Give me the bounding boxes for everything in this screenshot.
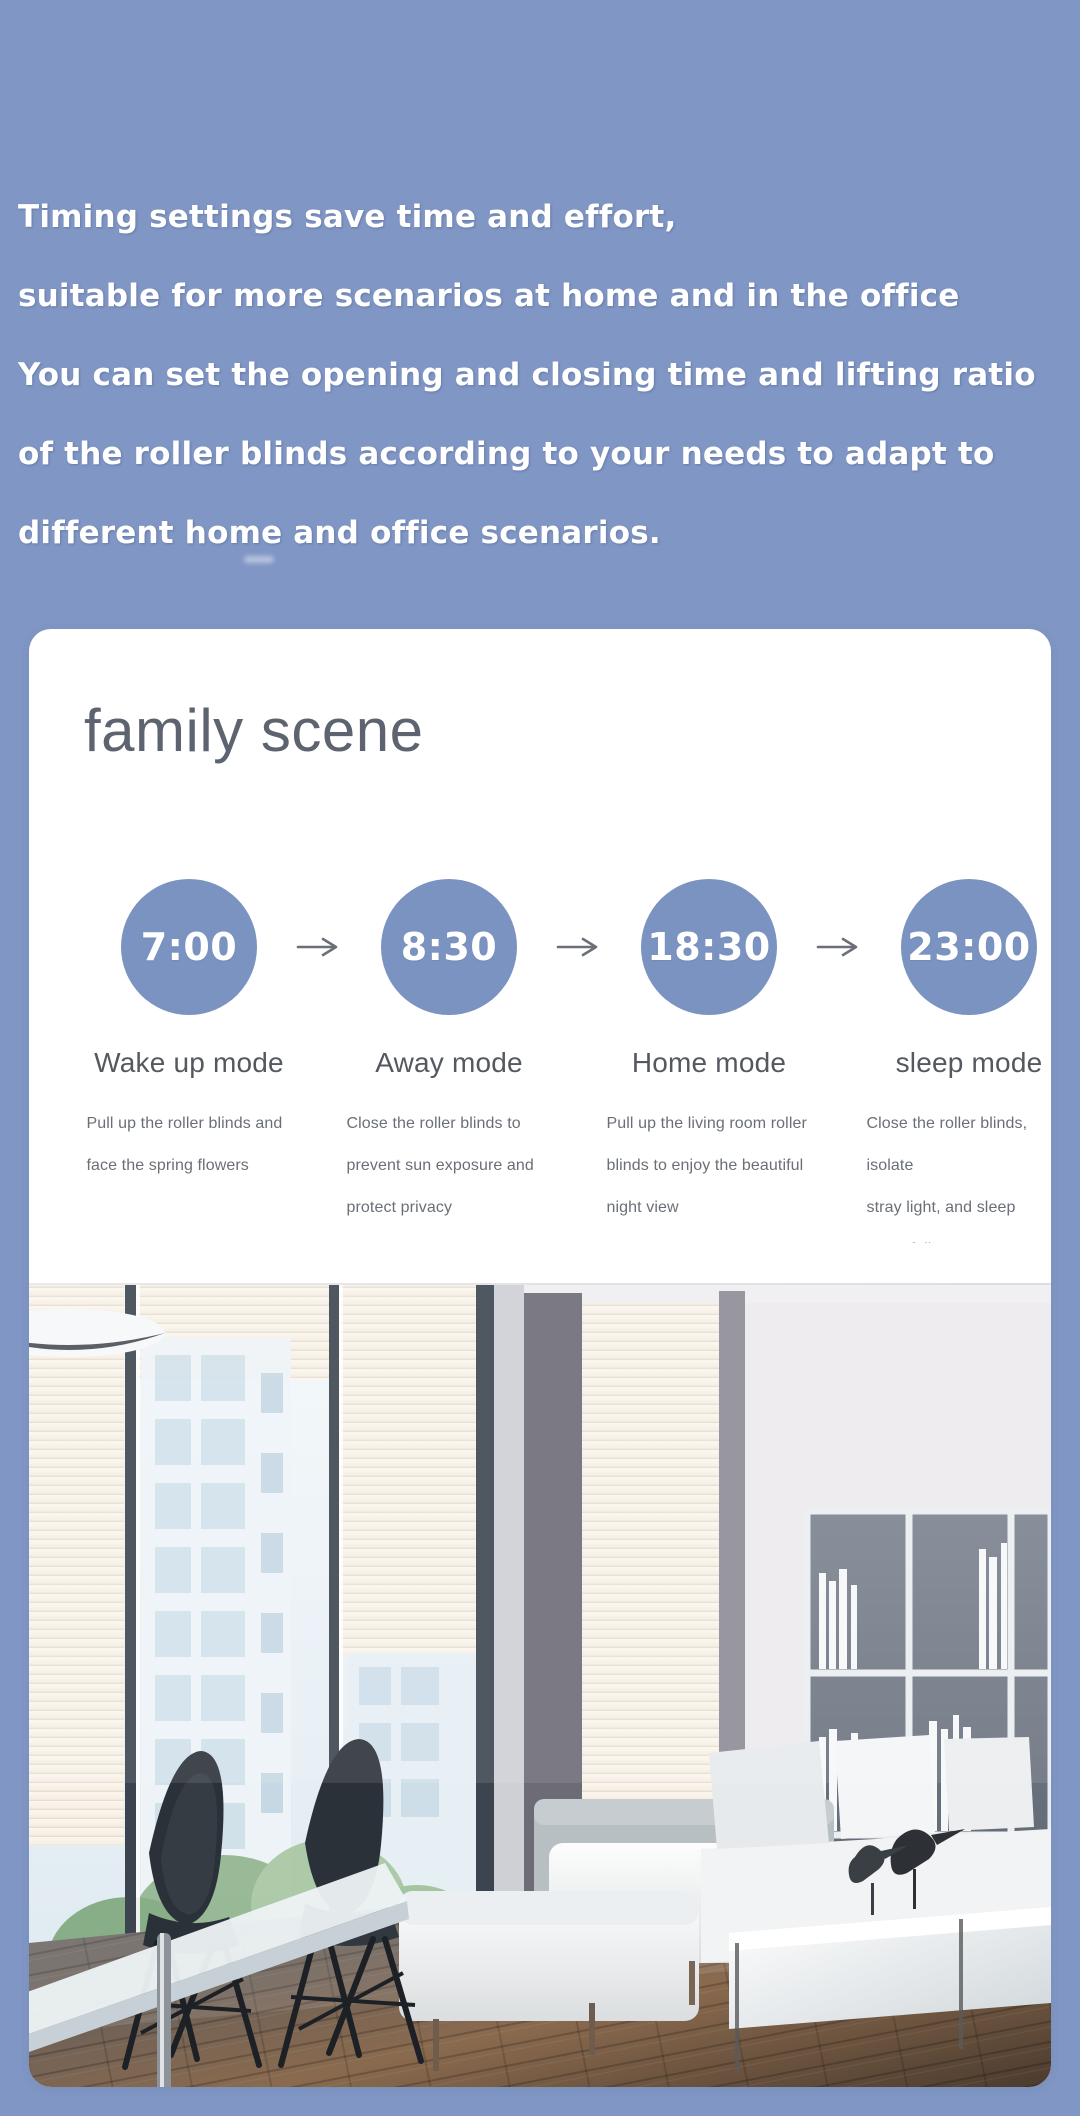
timeline-step-away[interactable]: 8:30 Away mode Close the roller blinds t… [349,879,549,1229]
background-artifact [244,556,274,563]
timeline-step-home[interactable]: 18:30 Home mode Pull up the living room … [609,879,809,1229]
description-line: Pull up the roller blinds and [87,1103,292,1145]
description-line: protect privacy [347,1187,552,1229]
mode-description: Pull up the living room roller blinds to… [607,1103,812,1229]
description-line: blinds to enjoy the beautiful [607,1145,812,1187]
time-bubble: 8:30 [381,879,517,1015]
headline-block: Timing settings save time and effort, su… [18,178,1062,573]
timeline-step-wake-up[interactable]: 7:00 Wake up mode Pull up the roller bli… [89,879,289,1187]
arrow-right-icon [549,879,609,1015]
family-scene-card: family scene 7:00 Wake up mode Pull up t… [29,629,1051,2087]
card-title: family scene [84,696,423,765]
mode-label: Wake up mode [94,1047,284,1079]
headline-line-2: suitable for more scenarios at home and … [18,257,1062,336]
description-line: Close the roller blinds, isolate [867,1103,1052,1187]
description-line: Close the roller blinds to [347,1103,552,1145]
scene-timeline: 7:00 Wake up mode Pull up the roller bli… [89,879,1029,1271]
mode-label: Home mode [632,1047,786,1079]
description-line: Pull up the living room roller [607,1103,812,1145]
description-line: face the spring flowers [87,1145,292,1187]
headline-line-1: Timing settings save time and effort, [18,178,1062,257]
time-bubble: 23:00 [901,879,1037,1015]
headline-line-3: You can set the opening and closing time… [18,336,1062,573]
description-line: night view [607,1187,812,1229]
mode-label: Away mode [375,1047,523,1079]
mode-description: Pull up the roller blinds and face the s… [87,1103,292,1187]
living-room-roller-blinds-photo [29,1243,1051,2087]
description-line: prevent sun exposure and [347,1145,552,1187]
timeline-step-sleep[interactable]: 23:00 sleep mode Close the roller blinds… [869,879,1051,1271]
mode-label: sleep mode [896,1047,1043,1079]
mode-description: Close the roller blinds to prevent sun e… [347,1103,552,1229]
time-bubble: 18:30 [641,879,777,1015]
arrow-right-icon [289,879,349,1015]
time-bubble: 7:00 [121,879,257,1015]
arrow-right-icon [809,879,869,1015]
